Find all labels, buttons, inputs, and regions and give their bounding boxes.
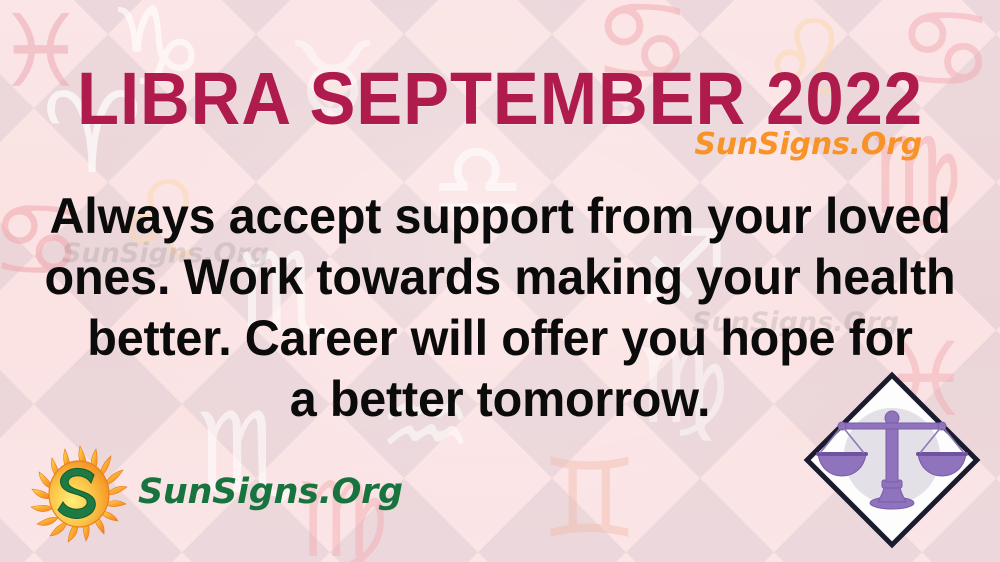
horoscope-line-1: Always accept support from your loved (44, 186, 956, 247)
brand-label-top: SunSigns.Org (694, 127, 922, 162)
site-logo[interactable]: SunSigns.Org (28, 442, 403, 546)
horoscope-banner: ♓ ♑ ♈ ♋ ♌ ♏ ♎ ♐ ♋ ♌ ♋ ♍ ♒ ♏ ♍ ♊ ♓ ♍ ♉ Su… (0, 0, 1000, 562)
horoscope-line-3: better. Career will offer you hope for (44, 308, 956, 369)
libra-zodiac-badge (802, 370, 982, 550)
sun-logo-icon (28, 442, 132, 546)
horoscope-line-2: ones. Work towards making your health (44, 247, 956, 308)
logo-wordmark: SunSigns.Org (138, 472, 403, 512)
